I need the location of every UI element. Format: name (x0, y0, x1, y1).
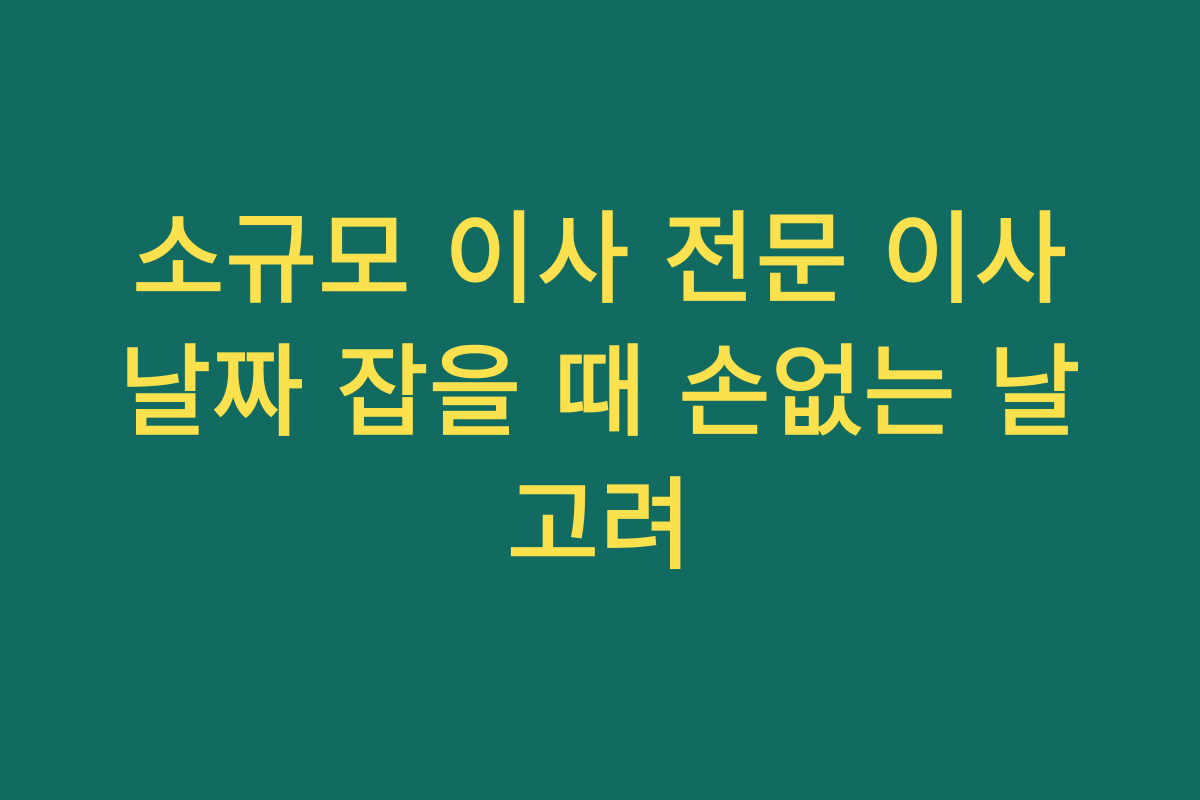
headline-block: 소규모 이사 전문 이사 날짜 잡을 때 손없는 날 고려 (45, 193, 1155, 592)
headline-line-3: 고려 (45, 459, 1155, 592)
headline-line-1: 소규모 이사 전문 이사 (45, 193, 1155, 326)
headline-line-2: 날짜 잡을 때 손없는 날 (45, 326, 1155, 459)
poster-canvas: 소규모 이사 전문 이사 날짜 잡을 때 손없는 날 고려 (0, 0, 1200, 800)
